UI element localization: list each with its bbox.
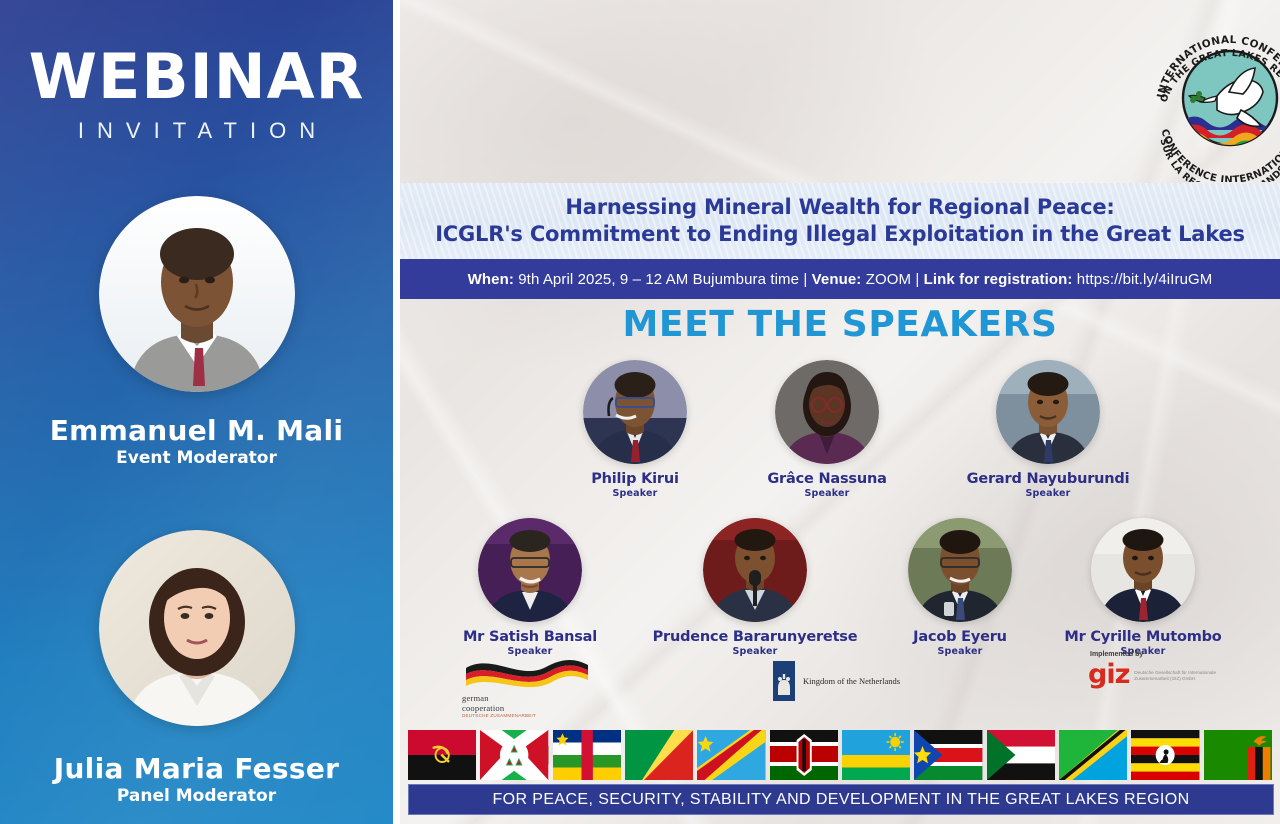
title-band: Harnessing Mineral Wealth for Regional P… <box>400 183 1280 259</box>
giz-caption: Implemented by <box>1090 651 1268 658</box>
german-flag-wave-icon <box>462 655 598 687</box>
german-coop-line1: german <box>462 693 632 703</box>
when-value-text: 9th April 2025, 9 – 12 AM Bujumbura time <box>518 271 799 288</box>
details-sep-2: | <box>911 271 924 288</box>
flag-sudan <box>987 730 1055 780</box>
details-band: When: 9th April 2025, 9 – 12 AM Bujumbur… <box>400 259 1280 299</box>
moderator-name-1: Emmanuel M. Mali <box>0 414 393 447</box>
right-panel: INTERNATIONAL CONFERENCE ON THE GREAT LA… <box>400 0 1280 824</box>
flag-angola <box>408 730 476 780</box>
speaker-card-2: Grâce Nassuna Speaker <box>752 360 902 499</box>
icglr-logo: INTERNATIONAL CONFERENCE ON THE GREAT LA… <box>1145 14 1280 182</box>
netherlands-logo: Kingdom of the Netherlands <box>773 661 900 701</box>
giz-subtitle: Deutsche Gesellschaft für Internationale… <box>1134 663 1224 682</box>
speaker-photo-3 <box>996 360 1100 464</box>
speaker-card-5: Prudence Bararunyeretse Speaker <box>640 518 870 657</box>
page-title: WEBINAR <box>0 46 393 108</box>
details-sep-1: | <box>799 271 812 288</box>
venue-label: Venue: <box>812 271 862 288</box>
flag-kenya <box>770 730 838 780</box>
speaker-role-1: Speaker <box>560 488 710 499</box>
giz-logo: Implemented by giz Deutsche Gesellschaft… <box>1088 651 1268 687</box>
page-subtitle: INVITATION <box>0 118 393 144</box>
flag-central-african-republic <box>553 730 621 780</box>
netherlands-crest-icon <box>773 661 795 701</box>
flag-uganda <box>1131 730 1199 780</box>
speaker-card-4: Mr Satish Bansal Speaker <box>442 518 618 657</box>
flag-tanzania <box>1059 730 1127 780</box>
speaker-name-2: Grâce Nassuna <box>752 471 902 487</box>
when-label: When: <box>468 271 514 288</box>
speaker-name-6: Jacob Eyeru <box>880 629 1040 645</box>
speaker-role-3: Speaker <box>960 488 1136 499</box>
german-coop-line3: DEUTSCHE ZUSAMMENARBEIT <box>462 713 632 718</box>
speaker-photo-4 <box>478 518 582 622</box>
registration-link-label: Link for registration: <box>924 271 1073 288</box>
webinar-title-line2: ICGLR's Commitment to Ending Illegal Exp… <box>435 221 1245 248</box>
netherlands-label: Kingdom of the Netherlands <box>803 676 900 686</box>
speaker-role-2: Speaker <box>752 488 902 499</box>
tagline-text: FOR PEACE, SECURITY, STABILITY AND DEVEL… <box>492 791 1189 809</box>
german-cooperation-logo: german cooperation DEUTSCHE ZUSAMMENARBE… <box>462 655 632 718</box>
speaker-card-1: Philip Kirui Speaker <box>560 360 710 499</box>
speaker-photo-2 <box>775 360 879 464</box>
speaker-card-7: Mr Cyrille Mutombo Speaker <box>1052 518 1234 657</box>
event-details: When: 9th April 2025, 9 – 12 AM Bujumbur… <box>468 271 1213 288</box>
speakers-heading: MEET THE SPEAKERS <box>400 304 1280 345</box>
webinar-title-line1: Harnessing Mineral Wealth for Regional P… <box>565 194 1114 221</box>
venue-value: ZOOM <box>866 271 911 288</box>
speaker-photo-1 <box>583 360 687 464</box>
moderator-name-2: Julia Maria Fesser <box>0 752 393 785</box>
speaker-card-6: Jacob Eyeru Speaker <box>880 518 1040 657</box>
moderator-photo-1 <box>99 196 295 392</box>
tagline-banner: FOR PEACE, SECURITY, STABILITY AND DEVEL… <box>408 784 1274 815</box>
moderator-role-1: Event Moderator <box>0 448 393 468</box>
speaker-name-7: Mr Cyrille Mutombo <box>1052 629 1234 645</box>
speaker-name-1: Philip Kirui <box>560 471 710 487</box>
moderator-role-2: Panel Moderator <box>0 786 393 806</box>
sponsor-logos: german cooperation DEUTSCHE ZUSAMMENARBE… <box>400 655 1280 717</box>
registration-link[interactable]: https://bit.ly/4iIruGM <box>1077 271 1213 288</box>
left-panel: WEBINAR INVITATION <box>0 0 393 824</box>
flag-south-sudan <box>914 730 982 780</box>
speaker-name-5: Prudence Bararunyeretse <box>640 629 870 645</box>
giz-wordmark: giz <box>1088 663 1129 687</box>
speaker-card-3: Gerard Nayuburundi Speaker <box>960 360 1136 499</box>
german-coop-line2: cooperation <box>462 703 632 713</box>
flag-congo <box>625 730 693 780</box>
webinar-invitation-poster: WEBINAR INVITATION <box>0 0 1280 824</box>
moderator-photo-2 <box>99 530 295 726</box>
member-country-flags <box>408 730 1272 780</box>
speaker-photo-6 <box>908 518 1012 622</box>
speaker-name-4: Mr Satish Bansal <box>442 629 618 645</box>
speaker-name-3: Gerard Nayuburundi <box>960 471 1136 487</box>
speaker-photo-5 <box>703 518 807 622</box>
flag-burundi <box>480 730 548 780</box>
flag-rwanda <box>842 730 910 780</box>
flag-zambia <box>1204 730 1272 780</box>
flag-drc <box>697 730 765 780</box>
speaker-photo-7 <box>1091 518 1195 622</box>
